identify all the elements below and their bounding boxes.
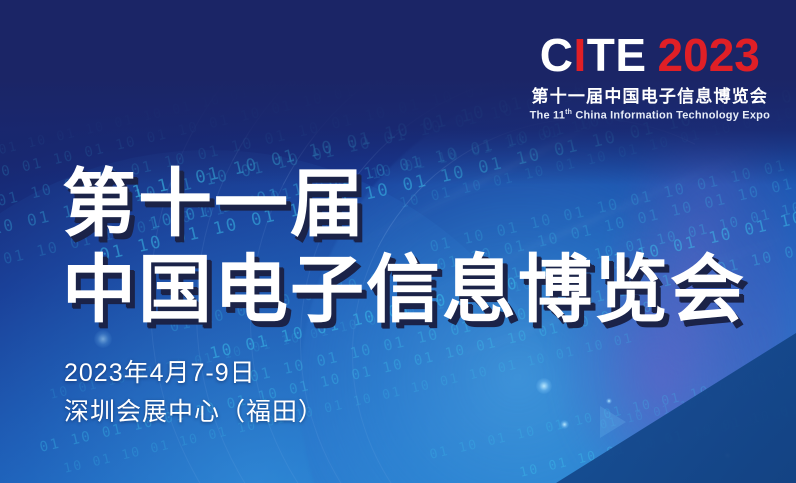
cite-letter-t: T (587, 29, 616, 81)
headline-line-2: 中国电子信息博览会 (62, 249, 746, 331)
cite-letter-c: C (540, 29, 574, 81)
triangle-marker (600, 406, 626, 438)
glint-dot-1 (536, 378, 552, 394)
poster-meta: 2023年4月7-9日 深圳会展中心（福田） (64, 356, 324, 429)
cite-logo: CITE2023 第十一届中国电子信息博览会 The 11th China In… (530, 32, 770, 122)
cite-letter-i: I (573, 29, 586, 81)
event-date: 2023年4月7-9日 (64, 356, 324, 390)
cite-logo-english-pre: The 11 (530, 110, 565, 122)
cite-letter-e: E (615, 29, 646, 81)
cite-year: 2023 (658, 29, 760, 81)
glint-dot-3 (606, 398, 612, 404)
poster-headline: 第十一届 中国电子信息博览会 (62, 163, 746, 331)
glint-dot-2 (560, 420, 569, 429)
headline-line-1: 第十一届 (62, 163, 746, 245)
poster-canvas: 10 01 10 01 10 01 10 01 10 01 10 01 10 0… (0, 0, 796, 483)
cite-logo-chinese-name: 第十一届中国电子信息博览会 (530, 82, 770, 107)
cite-logo-english-name: The 11th China Information Technology Ex… (530, 109, 770, 122)
cite-wordmark: CITE2023 (530, 32, 770, 78)
cite-logo-english-post: China Information Technology Expo (572, 110, 770, 122)
event-venue: 深圳会展中心（福田） (64, 395, 324, 429)
